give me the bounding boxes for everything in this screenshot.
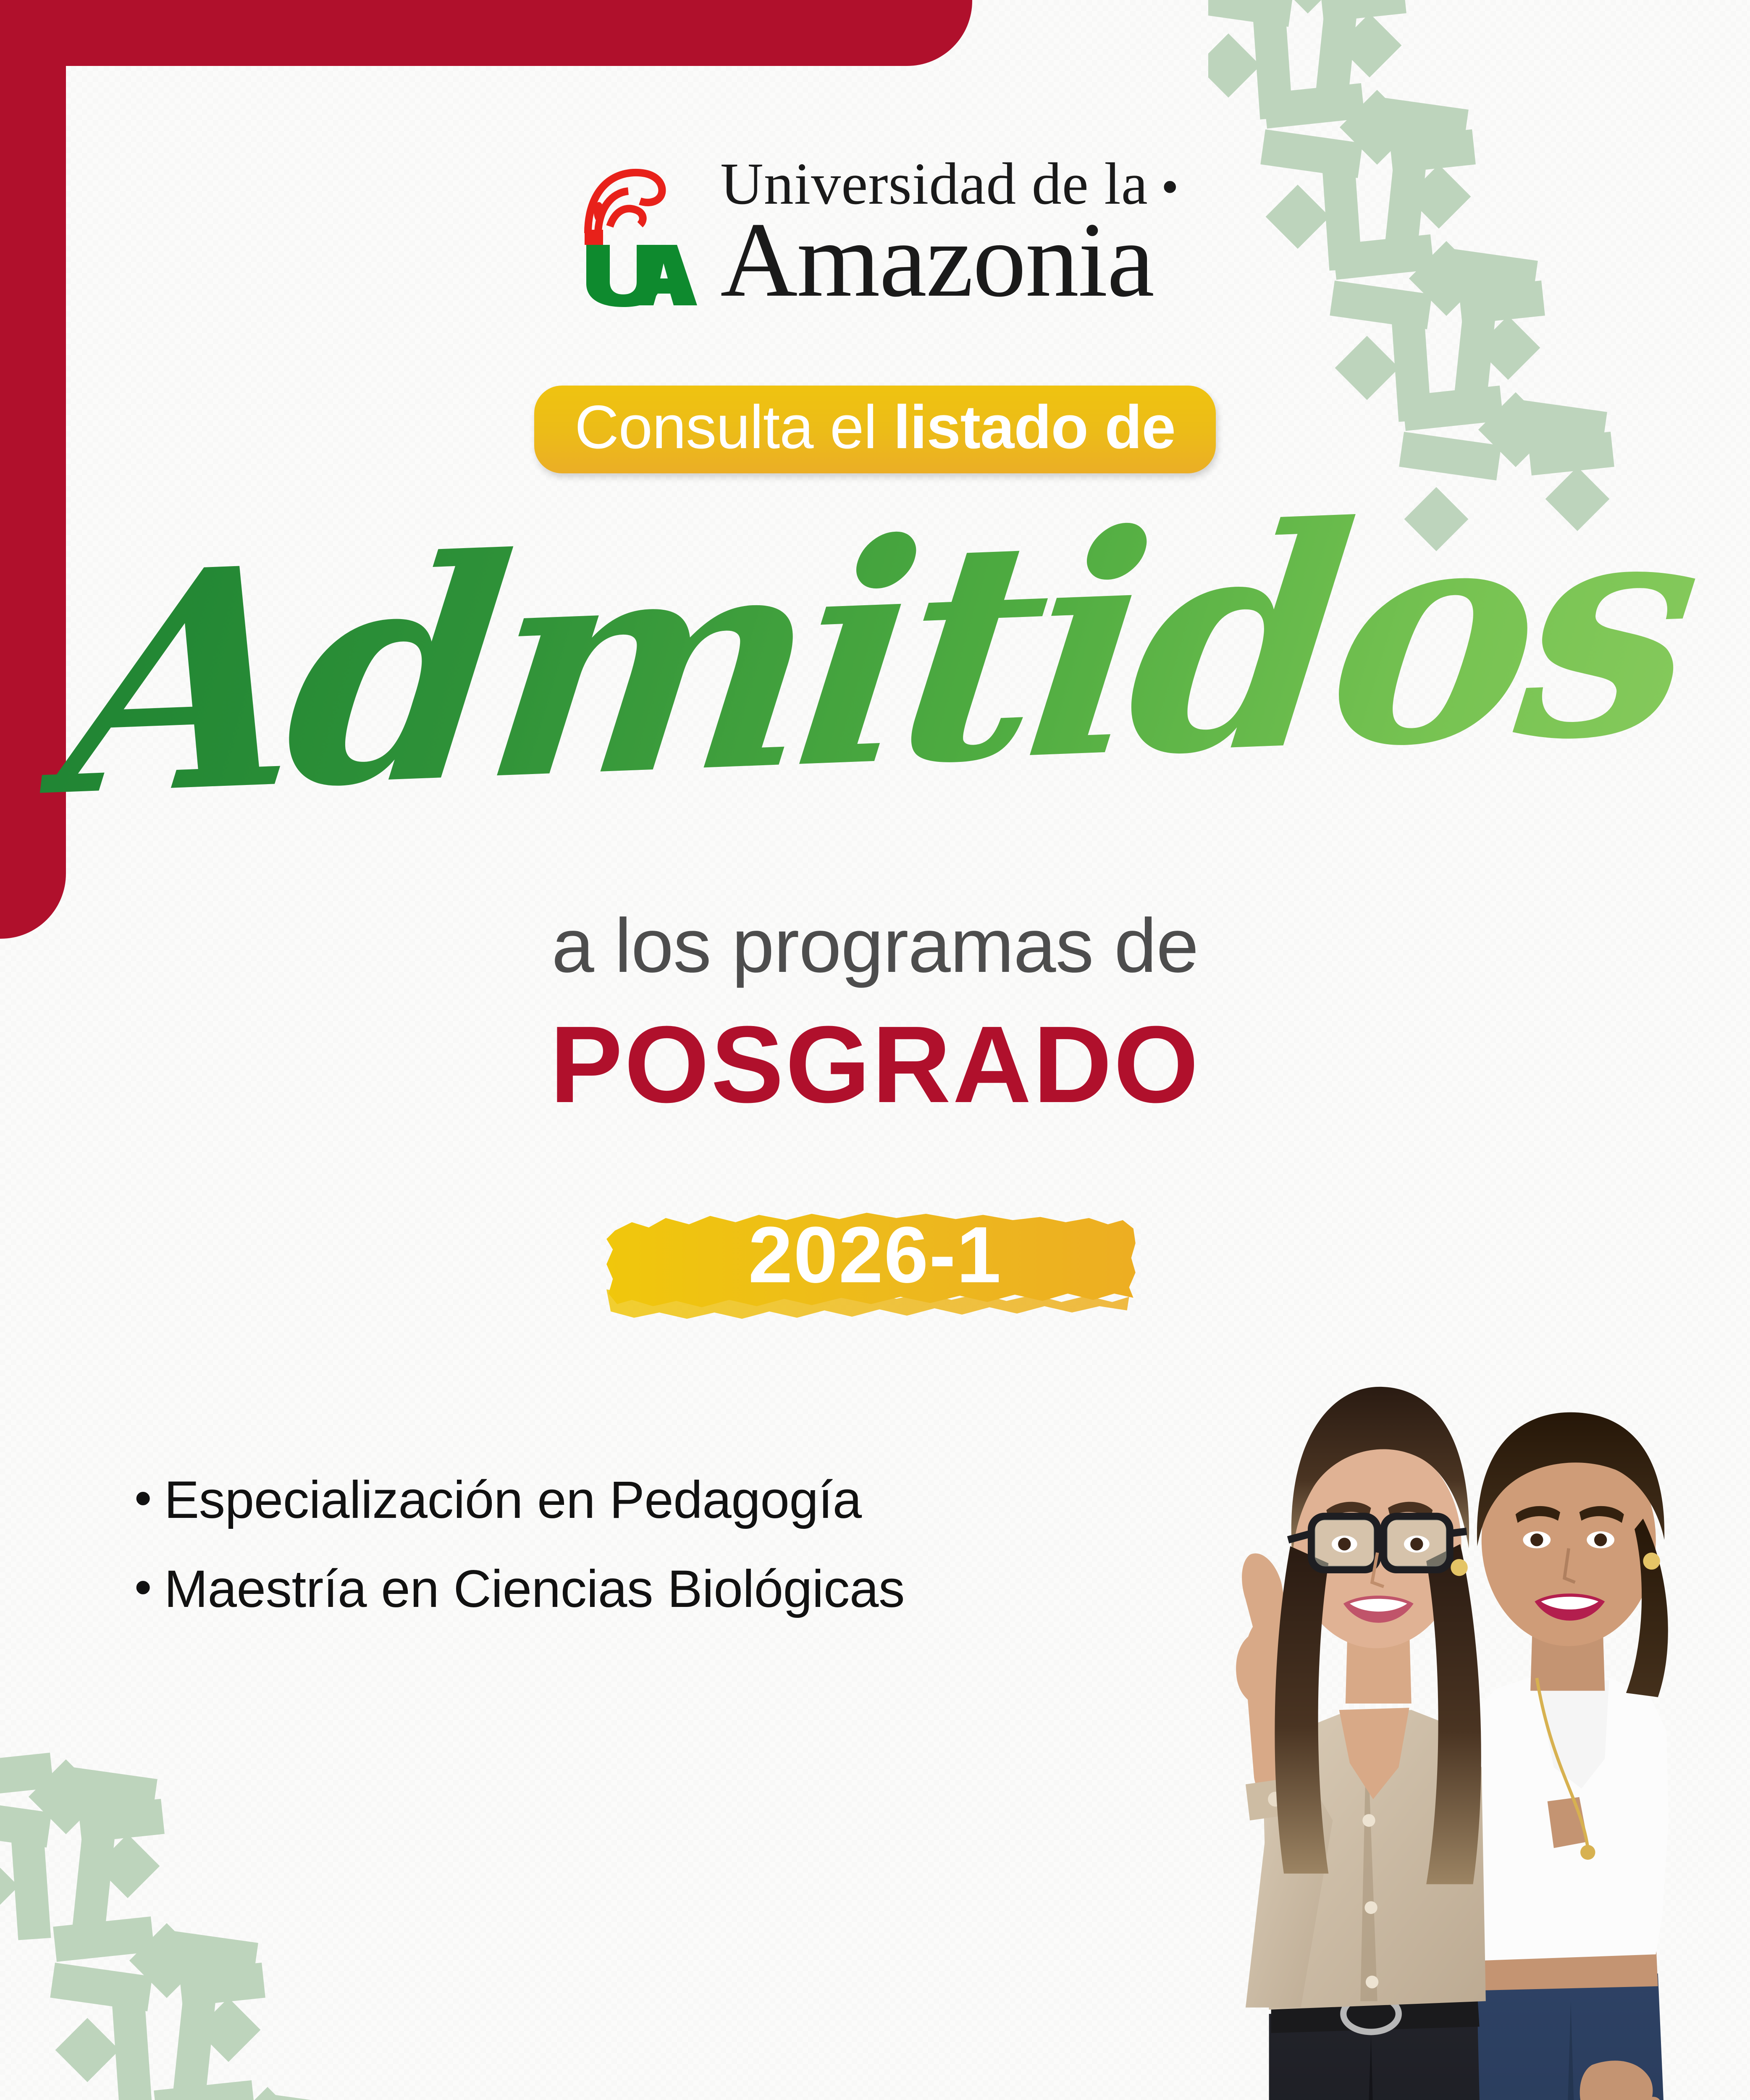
headline-level: POSGRADO <box>0 1010 1750 1119</box>
student-left <box>1236 1387 1486 2100</box>
bullet-icon: • <box>134 1562 152 1612</box>
headline-subtitle: a los programas de <box>0 907 1750 984</box>
admitidos-script-text: Admitidos <box>31 472 1719 863</box>
red-corner-frame-top <box>0 0 972 66</box>
consulta-prefix: Consulta el <box>575 393 893 461</box>
admitidos-headline: Admitidos <box>0 504 1750 832</box>
students-photo <box>1158 1321 1750 2100</box>
period-text: 2026-1 <box>748 1215 1002 1295</box>
period-banner: 2026-1 <box>0 1193 1750 1319</box>
program-list: • Especialización en Pedagogía • Maestrí… <box>134 1473 1100 1651</box>
program-name: Especialización en Pedagogía <box>164 1473 862 1527</box>
admissions-poster: Universidad de la • Amazonia Consulta el… <box>0 0 1750 2100</box>
list-item: • Maestría en Ciencias Biológicas <box>134 1562 1100 1616</box>
program-name: Maestría en Ciencias Biológicas <box>164 1562 905 1616</box>
bullet-icon: • <box>134 1473 152 1523</box>
logo-amazonia-line: Amazonia <box>720 213 1154 307</box>
geometric-pattern-bottom-left <box>0 1720 571 2100</box>
ua-toucan-monogram-icon <box>571 164 709 307</box>
consulta-emphasis: listado de <box>893 393 1175 461</box>
list-item: • Especialización en Pedagogía <box>134 1473 1100 1527</box>
university-logo: Universidad de la • Amazonia <box>0 156 1750 307</box>
consulta-banner-pill: Consulta el listado de <box>534 386 1215 473</box>
consulta-banner-text: Consulta el listado de <box>575 395 1175 459</box>
